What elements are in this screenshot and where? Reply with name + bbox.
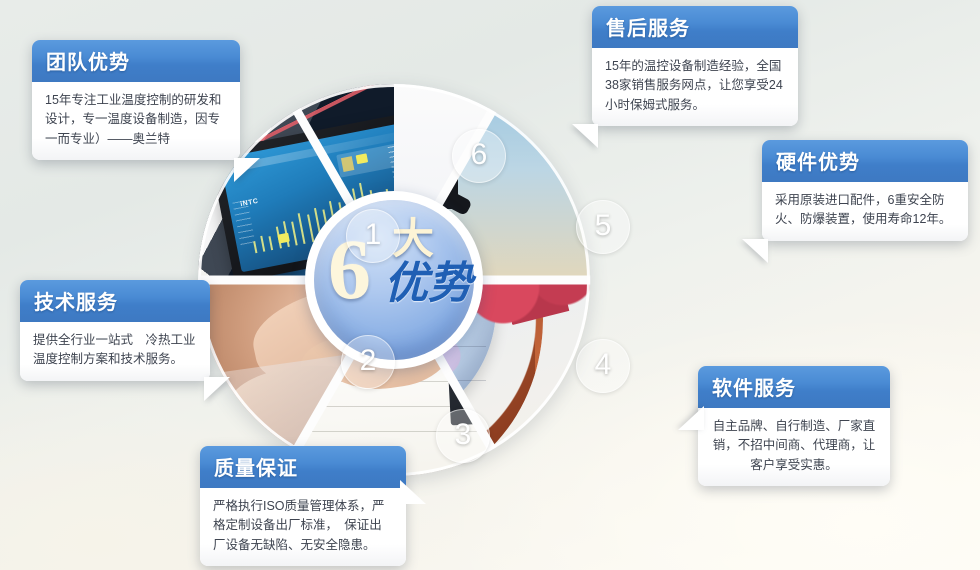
- badge-5[interactable]: 5: [576, 200, 630, 254]
- callout-technical-title: 技术服务: [20, 280, 210, 322]
- six-advantages-wheel: iNTC: [198, 84, 590, 476]
- callout-after-sales-title: 售后服务: [592, 6, 798, 48]
- callout-quality[interactable]: 质量保证 严格执行ISO质量管理体系，严格定制设备出厂标准， 保证出厂设备无缺陷…: [200, 446, 406, 566]
- callout-team-title: 团队优势: [32, 40, 240, 82]
- badge-2[interactable]: 2: [341, 335, 395, 389]
- callout-quality-tail: [400, 480, 426, 504]
- callout-technical-body: 提供全行业一站式 冷热工业温度控制方案和技术服务。: [20, 322, 210, 381]
- callout-technical-tail: [204, 377, 230, 401]
- badge-1[interactable]: 1: [346, 209, 400, 263]
- callout-quality-title: 质量保证: [200, 446, 406, 488]
- infographic-canvas: iNTC: [0, 0, 980, 570]
- badge-3[interactable]: 3: [436, 409, 490, 463]
- badge-6[interactable]: 6: [452, 129, 506, 183]
- callout-quality-body: 严格执行ISO质量管理体系，严格定制设备出厂标准， 保证出厂设备无缺陷、无安全隐…: [200, 488, 406, 566]
- callout-after-sales[interactable]: 售后服务 15年的温控设备制造经验，全国38家销售服务网点，让您享受24小时保姆…: [592, 6, 798, 126]
- callout-hardware-title: 硬件优势: [762, 140, 968, 182]
- hub-script-text: 优势: [384, 262, 472, 306]
- callout-hardware-tail: [742, 239, 768, 263]
- callout-after-sales-tail: [572, 124, 598, 148]
- callout-software-tail: [678, 406, 704, 430]
- callout-team-body: 15年专注工业温度控制的研发和设计，专一温度设备制造，因专一而专业）——奥兰特: [32, 82, 240, 160]
- callout-hardware[interactable]: 硬件优势 采用原装进口配件，6重安全防火、防爆装置，使用寿命12年。: [762, 140, 968, 241]
- callout-technical[interactable]: 技术服务 提供全行业一站式 冷热工业温度控制方案和技术服务。: [20, 280, 210, 381]
- callout-team[interactable]: 团队优势 15年专注工业温度控制的研发和设计，专一温度设备制造，因专一而专业）—…: [32, 40, 240, 160]
- callout-team-tail: [234, 158, 260, 182]
- callout-software[interactable]: 软件服务 自主品牌、自行制造、厂家直销，不招中间商、代理商，让客户享受实惠。: [698, 366, 890, 486]
- callout-software-title: 软件服务: [698, 366, 890, 408]
- callout-software-body: 自主品牌、自行制造、厂家直销，不招中间商、代理商，让客户享受实惠。: [698, 408, 890, 486]
- callout-after-sales-body: 15年的温控设备制造经验，全国38家销售服务网点，让您享受24小时保姆式服务。: [592, 48, 798, 126]
- callout-hardware-body: 采用原装进口配件，6重安全防火、防爆装置，使用寿命12年。: [762, 182, 968, 241]
- badge-4[interactable]: 4: [576, 339, 630, 393]
